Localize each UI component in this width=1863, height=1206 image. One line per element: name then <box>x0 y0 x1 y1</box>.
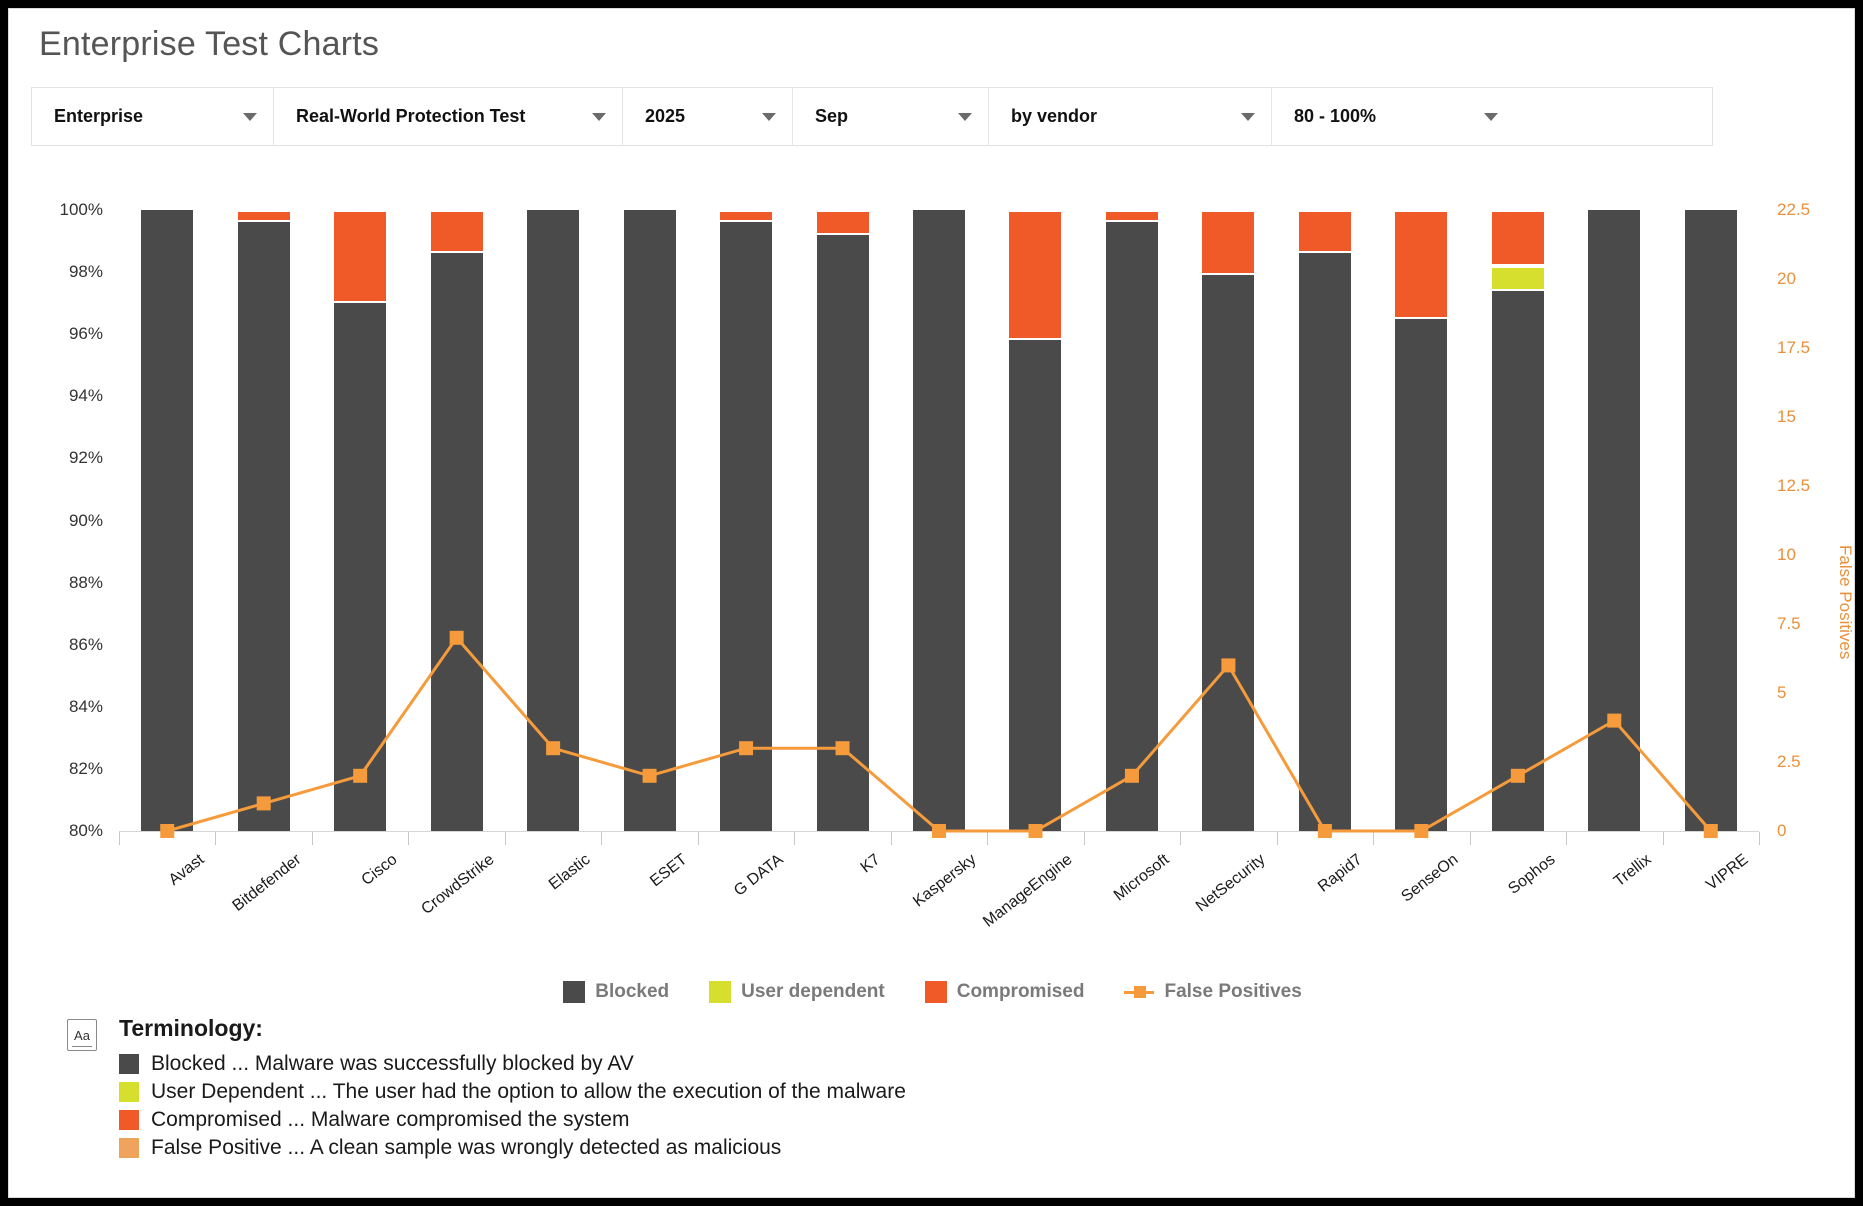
bar-segment-blocked <box>913 210 965 831</box>
bar-segment-blocked <box>1685 210 1737 831</box>
x-axis-label: Avast <box>166 851 208 890</box>
x-axis-label: Rapid7 <box>1315 851 1366 896</box>
x-axis-label: NetSecurity <box>1193 851 1269 916</box>
false-positives-legend-icon <box>1124 981 1154 1003</box>
bar-segment-compromised <box>1492 210 1544 264</box>
bar-slot <box>1663 210 1759 831</box>
filter-month[interactable]: Sep <box>793 88 989 145</box>
terminology-swatch <box>119 1138 139 1158</box>
stacked-bar[interactable] <box>1492 210 1544 831</box>
chevron-down-icon <box>1241 113 1255 121</box>
filter-range-value: 80 - 100% <box>1294 106 1458 127</box>
legend-swatch <box>563 981 585 1003</box>
stacked-bar[interactable] <box>238 210 290 831</box>
x-axis-label: Bitdefender <box>229 851 305 916</box>
filter-test-type[interactable]: Real-World Protection Test <box>274 88 623 145</box>
legend-label: Compromised <box>957 981 1085 1003</box>
y-axis-tick-label: 80% <box>23 821 103 841</box>
filter-segment-value: Enterprise <box>54 106 217 127</box>
terminology-item: User Dependent ... The user had the opti… <box>119 1080 906 1104</box>
bar-slot <box>1180 210 1276 831</box>
x-axis-label: SenseOn <box>1399 851 1463 906</box>
terminology-text: False Positive ... A clean sample was wr… <box>151 1136 781 1160</box>
bar-segment-blocked <box>1299 253 1351 831</box>
filter-bar: Enterprise Real-World Protection Test 20… <box>31 87 1713 146</box>
page-title: Enterprise Test Charts <box>39 25 379 64</box>
x-axis-tick <box>1084 832 1085 845</box>
bar-segment-blocked <box>1492 291 1544 831</box>
y-axis-right-tick-label: 12.5 <box>1777 476 1847 496</box>
bar-slot <box>1084 210 1180 831</box>
y-axis-tick-label: 94% <box>23 386 103 406</box>
bar-segment-blocked <box>624 210 676 831</box>
stacked-bar[interactable] <box>527 210 579 831</box>
x-axis-tick <box>215 832 216 845</box>
legend-swatch <box>925 981 947 1003</box>
y-axis-tick-label: 98% <box>23 262 103 282</box>
filter-test-type-value: Real-World Protection Test <box>296 106 566 127</box>
terminology-text: Compromised ... Malware compromised the … <box>151 1108 629 1132</box>
x-axis-tick <box>601 832 602 845</box>
terminology-list: Blocked ... Malware was successfully blo… <box>119 1052 906 1160</box>
x-axis-label: Kaspersky <box>910 851 980 911</box>
x-axis-tick <box>408 832 409 845</box>
legend-item[interactable]: False Positives <box>1124 981 1301 1003</box>
bar-slot <box>1470 210 1566 831</box>
x-axis-line <box>119 831 1759 832</box>
legend-swatch <box>709 981 731 1003</box>
x-axis-label: G DATA <box>731 851 787 900</box>
legend-label: User dependent <box>741 981 885 1003</box>
y-axis-tick-label: 90% <box>23 511 103 531</box>
x-axis-label: Cisco <box>359 851 402 890</box>
bar-segment-blocked <box>1395 319 1447 831</box>
legend-item[interactable]: Blocked <box>563 981 669 1003</box>
legend-item[interactable]: User dependent <box>709 981 885 1003</box>
stacked-bar[interactable] <box>1588 210 1640 831</box>
terminology-title: Terminology: <box>119 1015 906 1042</box>
stacked-bar[interactable] <box>334 210 386 831</box>
chevron-down-icon <box>762 113 776 121</box>
bar-segment-user-dependent <box>1492 266 1544 289</box>
filter-grouping[interactable]: by vendor <box>989 88 1272 145</box>
bar-slot <box>312 210 408 831</box>
x-axis-tick <box>312 832 313 845</box>
bar-slot <box>1566 210 1662 831</box>
bar-slot <box>408 210 504 831</box>
bar-segment-blocked <box>1202 275 1254 831</box>
x-axis-tick <box>1277 832 1278 845</box>
x-axis-label: Trellix <box>1611 851 1655 891</box>
x-axis-tick <box>698 832 699 845</box>
x-axis-tick <box>1566 832 1567 845</box>
x-axis-label: CrowdStrike <box>418 851 498 919</box>
chevron-down-icon <box>592 113 606 121</box>
y-axis-right-tick-label: 0 <box>1777 821 1847 841</box>
bar-segment-compromised <box>720 210 772 220</box>
terminology-swatch <box>119 1054 139 1074</box>
chevron-down-icon <box>243 113 257 121</box>
terminology-item: Compromised ... Malware compromised the … <box>119 1108 906 1132</box>
bar-segment-blocked <box>720 222 772 831</box>
bar-segment-compromised <box>1395 210 1447 317</box>
legend-label: Blocked <box>595 981 669 1003</box>
x-axis-tick <box>987 832 988 845</box>
y-axis-right-tick-label: 5 <box>1777 683 1847 703</box>
y-axis-right-tick-label: 20 <box>1777 269 1847 289</box>
x-axis-label: ESET <box>647 851 691 891</box>
bar-segment-compromised <box>238 210 290 220</box>
x-axis-tick <box>1180 832 1181 845</box>
y-axis-tick-label: 88% <box>23 573 103 593</box>
x-axis-label: Microsoft <box>1111 851 1173 905</box>
filter-range[interactable]: 80 - 100% <box>1272 88 1514 145</box>
bar-segment-blocked <box>1588 210 1640 831</box>
protection-test-chart: 80%82%84%86%88%90%92%94%96%98%100% 02.55… <box>9 159 1856 859</box>
stacked-bar[interactable] <box>141 210 193 831</box>
bar-slot <box>794 210 890 831</box>
y-axis-tick-label: 100% <box>23 200 103 220</box>
stacked-bar[interactable] <box>1685 210 1737 831</box>
bar-segment-blocked <box>334 303 386 831</box>
x-axis-tick <box>891 832 892 845</box>
terminology-swatch <box>119 1110 139 1130</box>
y-axis-right-tick-label: 15 <box>1777 407 1847 427</box>
bar-slot <box>215 210 311 831</box>
bar-segment-blocked <box>527 210 579 831</box>
bar-slot <box>505 210 601 831</box>
bar-slot <box>1277 210 1373 831</box>
bar-slot <box>119 210 215 831</box>
bar-segment-compromised <box>431 210 483 251</box>
y-axis-right-tick-label: 2.5 <box>1777 752 1847 772</box>
chart-legend: BlockedUser dependentCompromisedFalse Po… <box>9 981 1856 1003</box>
x-axis-label: Sophos <box>1505 851 1559 899</box>
stacked-bar[interactable] <box>1009 210 1061 831</box>
bar-segment-blocked <box>1106 222 1158 831</box>
legend-label: False Positives <box>1164 981 1301 1003</box>
terminology-item: False Positive ... A clean sample was wr… <box>119 1136 906 1160</box>
bar-segment-compromised <box>1009 210 1061 338</box>
plot-area <box>119 210 1759 831</box>
bar-slot <box>987 210 1083 831</box>
y-axis-tick-label: 96% <box>23 324 103 344</box>
bar-segment-compromised <box>1202 210 1254 273</box>
bar-segment-compromised <box>1106 210 1158 220</box>
bar-segment-blocked <box>238 222 290 831</box>
bar-slot <box>1373 210 1469 831</box>
x-axis-tick <box>1373 832 1374 845</box>
stacked-bar[interactable] <box>624 210 676 831</box>
chevron-down-icon <box>1484 113 1498 121</box>
x-axis-tick <box>794 832 795 845</box>
legend-item[interactable]: Compromised <box>925 981 1085 1003</box>
filter-year[interactable]: 2025 <box>623 88 793 145</box>
bar-segment-blocked <box>141 210 193 831</box>
app-window: Enterprise Test Charts Enterprise Real-W… <box>8 8 1855 1198</box>
bar-slot <box>891 210 987 831</box>
x-axis-tick <box>1663 832 1664 845</box>
filter-year-value: 2025 <box>645 106 736 127</box>
x-axis-tick <box>505 832 506 845</box>
stacked-bar[interactable] <box>431 210 483 831</box>
bar-segment-compromised <box>817 210 869 233</box>
chevron-down-icon <box>958 113 972 121</box>
y-axis-tick-label: 86% <box>23 635 103 655</box>
y-axis-right-title: False Positives <box>1835 545 1855 659</box>
x-axis-label: VIPRE <box>1703 851 1752 895</box>
text-size-icon[interactable]: Aa <box>67 1019 97 1051</box>
bar-segment-compromised <box>1299 210 1351 251</box>
x-axis-tick <box>1470 832 1471 845</box>
stacked-bar[interactable] <box>1202 210 1254 831</box>
terminology-swatch <box>119 1082 139 1102</box>
filter-month-value: Sep <box>815 106 932 127</box>
y-axis-right-tick-label: 22.5 <box>1777 200 1847 220</box>
x-axis-tick <box>1759 832 1760 845</box>
terminology-text: User Dependent ... The user had the opti… <box>151 1080 906 1104</box>
y-axis-tick-label: 92% <box>23 448 103 468</box>
bar-segment-blocked <box>817 235 869 831</box>
stacked-bar[interactable] <box>720 210 772 831</box>
y-axis-tick-label: 82% <box>23 759 103 779</box>
stacked-bar[interactable] <box>1395 210 1447 831</box>
terminology-item: Blocked ... Malware was successfully blo… <box>119 1052 906 1076</box>
bar-segment-blocked <box>1009 340 1061 831</box>
bar-slot <box>601 210 697 831</box>
y-axis-tick-label: 84% <box>23 697 103 717</box>
terminology-text: Blocked ... Malware was successfully blo… <box>151 1052 634 1076</box>
bar-segment-compromised <box>334 210 386 301</box>
x-axis-label: ManageEngine <box>981 851 1077 931</box>
stacked-bar[interactable] <box>913 210 965 831</box>
bar-slot <box>698 210 794 831</box>
x-axis-label: Elastic <box>546 851 594 894</box>
x-axis-tick <box>119 832 120 845</box>
x-axis-label: K7 <box>857 851 884 877</box>
stacked-bar[interactable] <box>817 210 869 831</box>
filter-segment[interactable]: Enterprise <box>32 88 274 145</box>
stacked-bar[interactable] <box>1299 210 1351 831</box>
y-axis-right-tick-label: 17.5 <box>1777 338 1847 358</box>
stacked-bar[interactable] <box>1106 210 1158 831</box>
bar-segment-blocked <box>431 253 483 831</box>
filter-grouping-value: by vendor <box>1011 106 1215 127</box>
